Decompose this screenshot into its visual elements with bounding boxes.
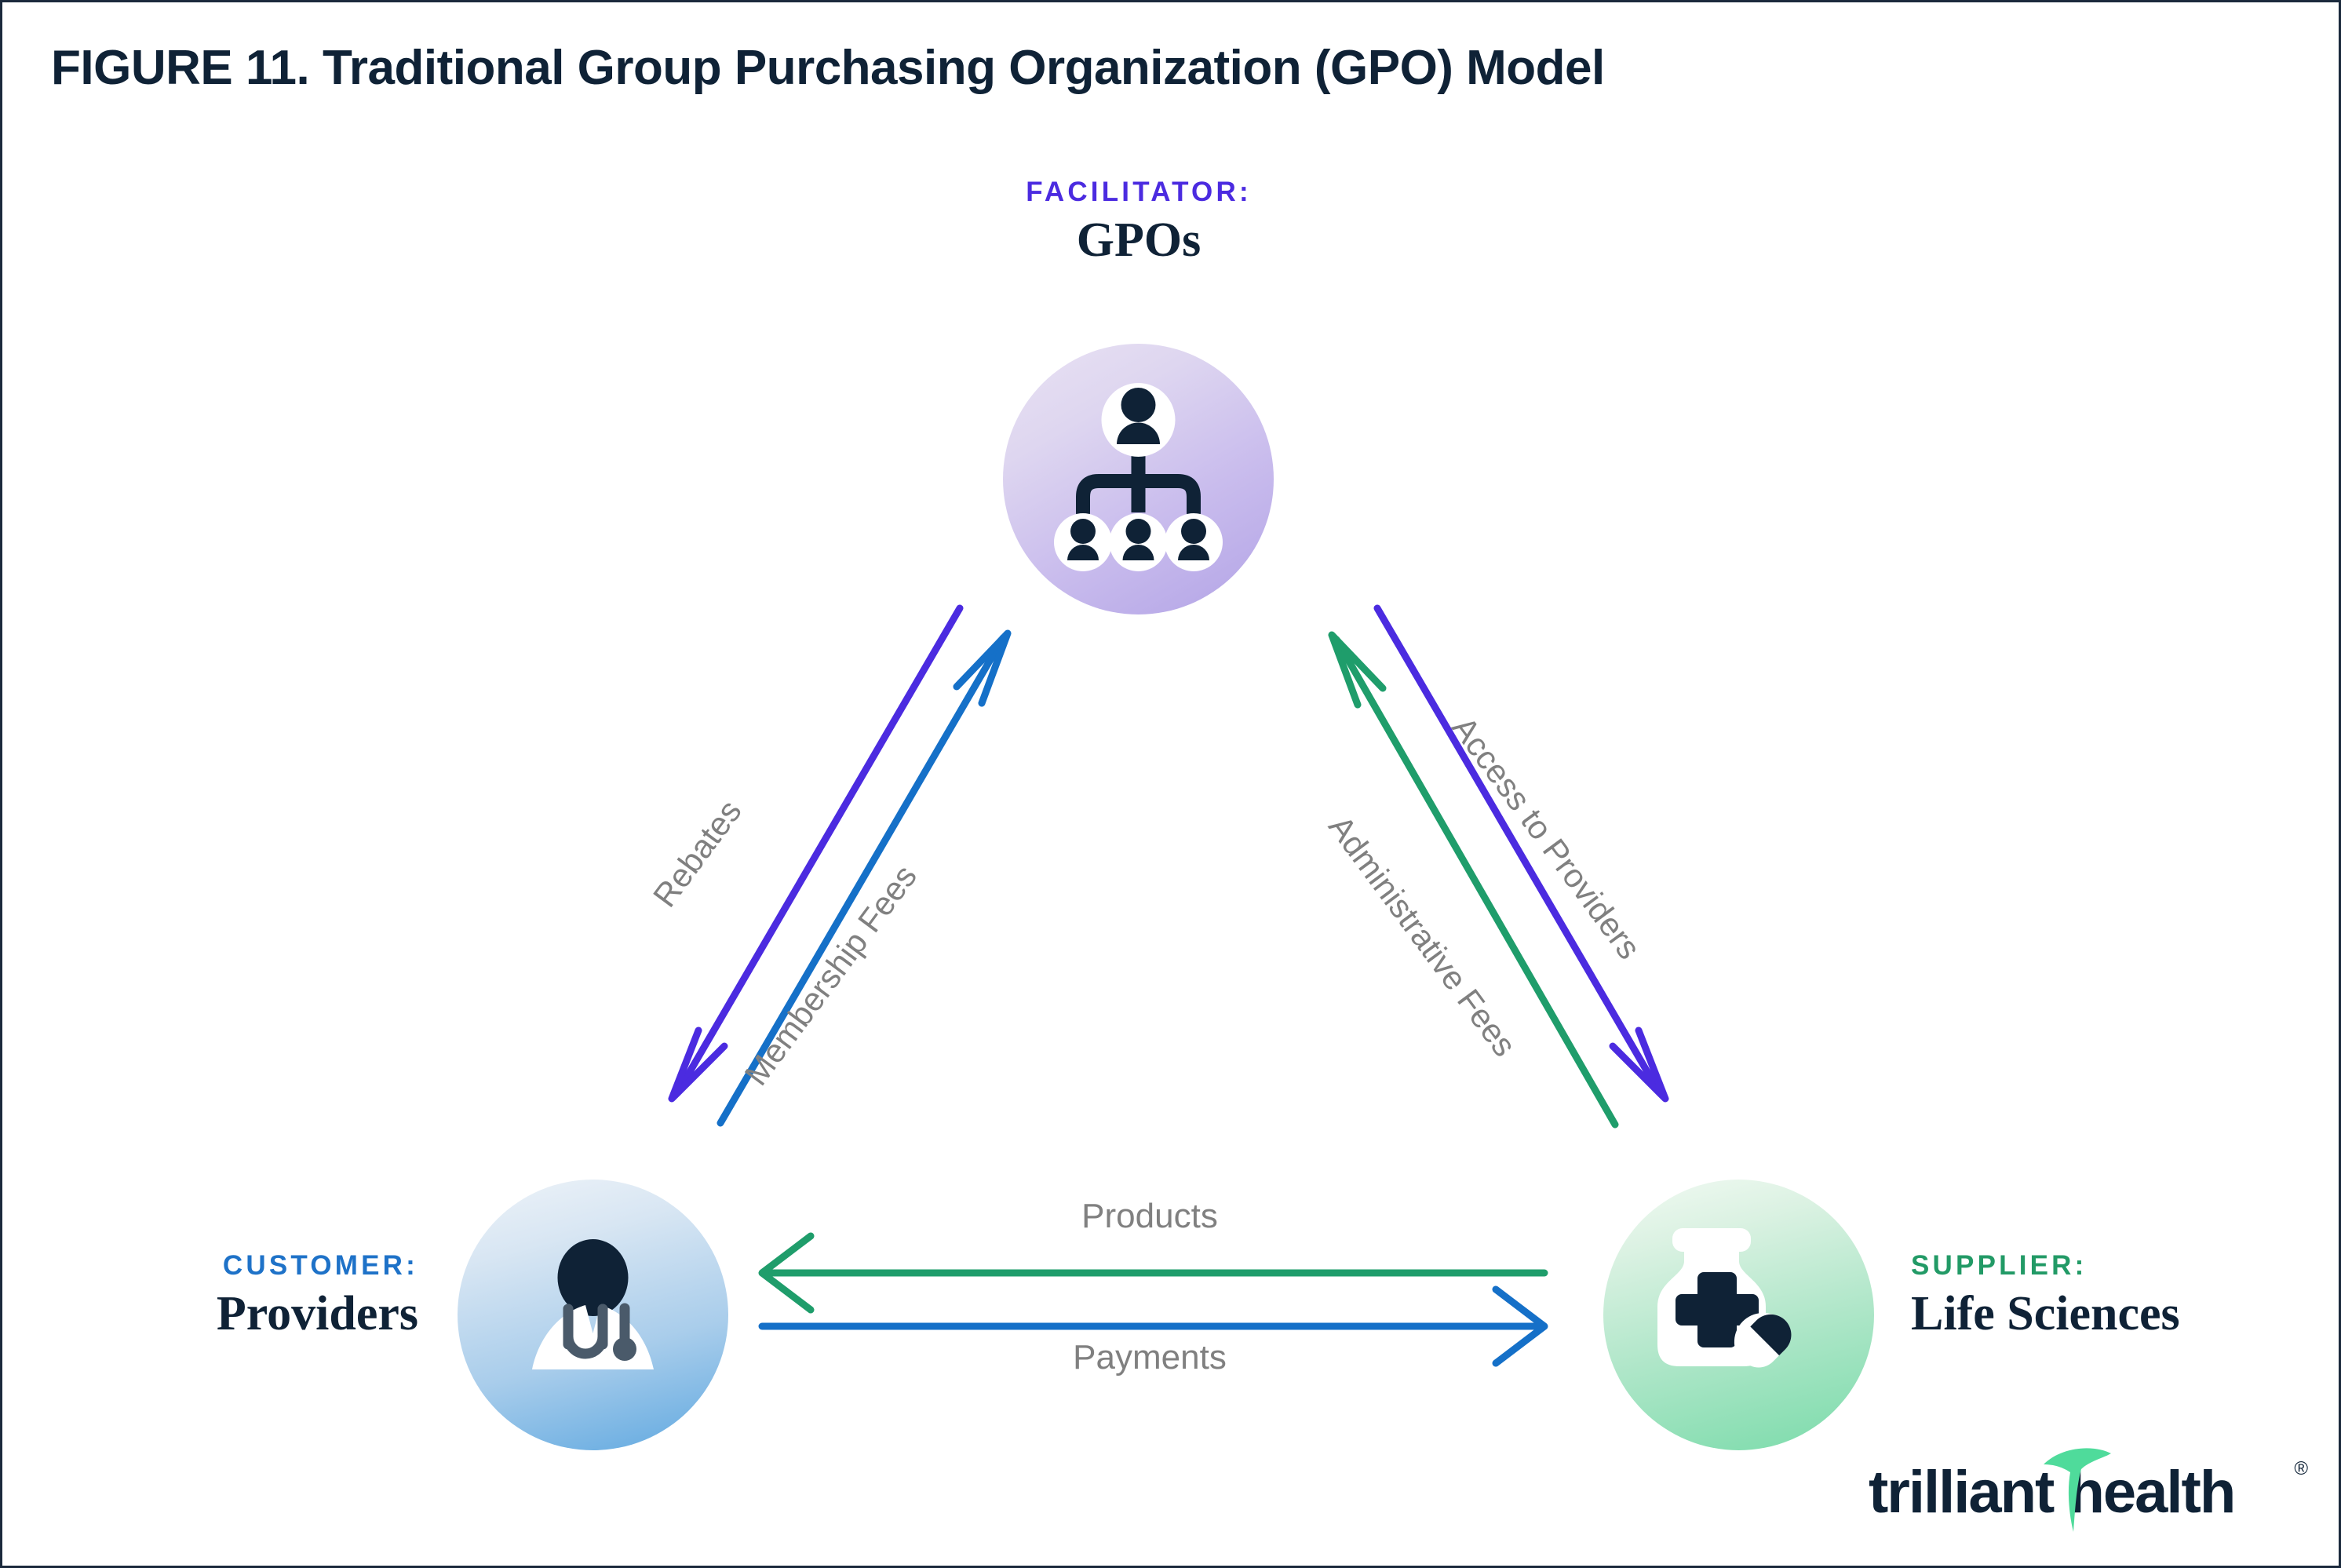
node-gpos-caption: FACILITATOR: GPOs	[1026, 177, 1252, 268]
flow-label-payments: Payments	[1073, 1338, 1227, 1377]
gpos-title: GPOs	[1026, 213, 1252, 268]
life-sciences-kicker: SUPPLIER:	[1911, 1250, 2180, 1282]
arrow-products	[762, 1236, 1544, 1310]
node-life-sciences-caption: SUPPLIER: Life Sciences	[1911, 1250, 2180, 1342]
medicine-bottle-pill-icon	[1603, 1180, 1874, 1450]
gpos-kicker: FACILITATOR:	[1026, 177, 1252, 208]
arrow-access-to-providers	[1377, 608, 1665, 1099]
node-life-sciences-circle[interactable]	[1603, 1180, 1874, 1450]
node-providers-circle[interactable]	[458, 1180, 728, 1450]
doctor-icon	[458, 1180, 728, 1450]
providers-kicker: CUSTOMER:	[217, 1250, 418, 1282]
org-chart-icon	[1003, 344, 1274, 614]
node-providers-caption: CUSTOMER: Providers	[217, 1250, 418, 1342]
life-sciences-title: Life Sciences	[1911, 1286, 2180, 1342]
providers-title: Providers	[217, 1286, 418, 1342]
figure-canvas: FIGURE 11. Traditional Group Purchasing …	[0, 0, 2341, 1568]
flow-label-products: Products	[1081, 1197, 1218, 1236]
node-gpos-circle[interactable]	[1003, 344, 1274, 614]
registered-trademark-symbol: ®	[2294, 1458, 2308, 1480]
swoosh-icon	[2040, 1441, 2116, 1535]
trilliant-health-logo: trilliant health ®	[1869, 1450, 2308, 1535]
